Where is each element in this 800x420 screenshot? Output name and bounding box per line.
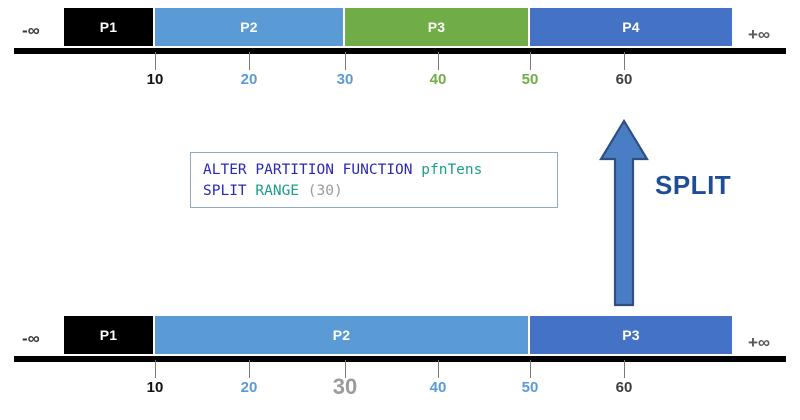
partition-label: P3 [622, 328, 640, 342]
axis-line-bottom [14, 356, 786, 362]
axis-tick-label: 60 [594, 380, 654, 395]
partition-label: P4 [622, 20, 640, 34]
axis-tick-label: 40 [408, 380, 468, 395]
axis-tick-mark [249, 52, 250, 70]
partition-label: P2 [240, 20, 258, 34]
sql-object-name: pfnTens [421, 162, 482, 178]
axis-tick-label: 20 [219, 72, 279, 87]
positive-infinity-label-top: +∞ [748, 26, 770, 43]
partition-block: P2 [155, 316, 530, 354]
partition-block: P2 [155, 8, 345, 46]
sql-keyword-split: SPLIT [203, 183, 255, 199]
axis-tick-label: 50 [500, 380, 560, 395]
partition-block: P1 [64, 316, 155, 354]
negative-infinity-label-bottom: -∞ [22, 330, 40, 347]
sql-boundary-value: 30 [317, 183, 334, 199]
partition-block: P3 [345, 8, 530, 46]
axis-tick-label: 30 [315, 376, 375, 398]
partition-label: P1 [100, 328, 118, 342]
split-label: SPLIT [655, 172, 731, 198]
partition-block: P3 [530, 316, 732, 354]
axis-tick-label: 50 [500, 72, 560, 87]
axis-tick-mark [155, 360, 156, 378]
positive-infinity-label-bottom: +∞ [748, 334, 770, 351]
partition-block: P4 [530, 8, 732, 46]
axis-tick-mark [624, 360, 625, 378]
partition-label: P3 [428, 20, 446, 34]
axis-tick-mark [249, 360, 250, 378]
sql-keyword-alter: ALTER PARTITION FUNCTION [203, 162, 421, 178]
axis-tick-label: 20 [219, 380, 279, 395]
sql-line-2: SPLIT RANGE (30) [203, 181, 547, 202]
sql-keyword-range: RANGE [255, 183, 307, 199]
sql-command-box: ALTER PARTITION FUNCTION pfnTens SPLIT R… [190, 152, 558, 208]
axis-tick-label: 60 [594, 72, 654, 87]
partition-block: P1 [64, 8, 155, 46]
sql-line-1: ALTER PARTITION FUNCTION pfnTens [203, 160, 547, 181]
axis-tick-label: 30 [315, 72, 375, 87]
split-up-arrow-icon [598, 118, 650, 308]
partition-label: P1 [100, 20, 118, 34]
axis-tick-mark [624, 52, 625, 70]
negative-infinity-label-top: -∞ [22, 22, 40, 39]
axis-tick-label: 10 [125, 72, 185, 87]
axis-tick-mark [438, 52, 439, 70]
partition-label: P2 [333, 328, 351, 342]
axis-tick-mark [438, 360, 439, 378]
axis-line-top [14, 48, 786, 54]
sql-paren-close: ) [334, 183, 343, 199]
axis-tick-label: 10 [125, 380, 185, 395]
axis-tick-mark [530, 52, 531, 70]
axis-tick-label: 40 [408, 72, 468, 87]
axis-tick-mark [155, 52, 156, 70]
axis-tick-mark [345, 52, 346, 70]
axis-tick-mark [530, 360, 531, 378]
sql-paren-open: ( [308, 183, 317, 199]
